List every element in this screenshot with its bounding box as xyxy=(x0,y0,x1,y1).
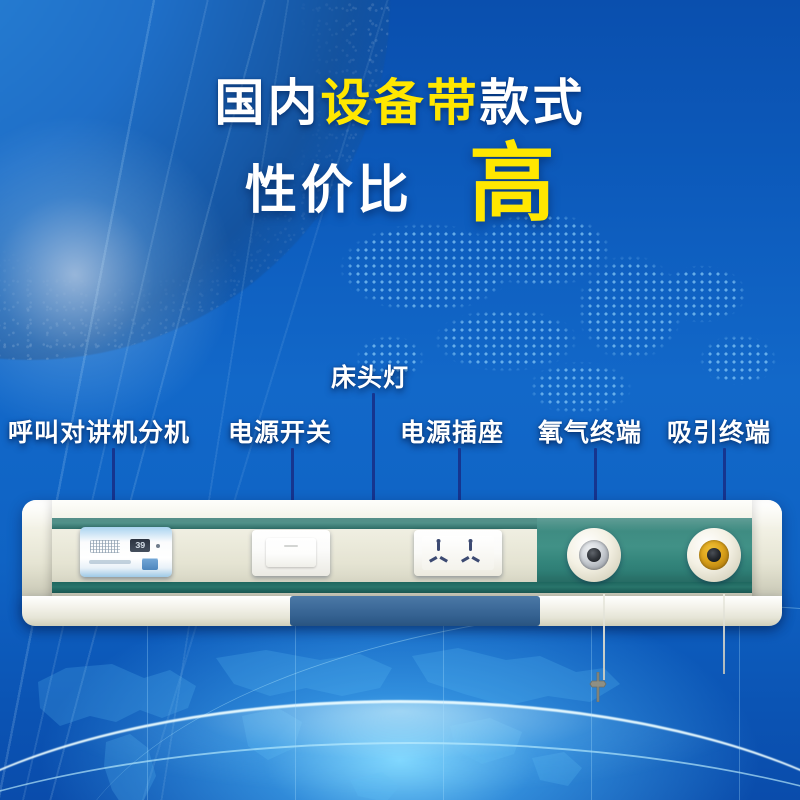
switch-rocker[interactable] xyxy=(266,538,316,567)
headline-text-plain-2: 款式 xyxy=(480,75,586,131)
intercom-slot xyxy=(89,560,131,564)
poster-canvas: 国内设备带款式 性价比 高 呼叫对讲机分机 电源开关 床头灯 电源插座 氧气终端… xyxy=(0,0,800,800)
headline-text-plain-1: 国内 xyxy=(215,75,321,131)
rail-accent-section xyxy=(290,596,540,626)
headline-emphasis: 高 xyxy=(469,144,555,226)
suction-terminal-port-icon xyxy=(707,548,721,562)
intercom-call-button[interactable] xyxy=(142,558,158,570)
background-grid-lines xyxy=(0,600,800,800)
bedside-light-switch[interactable] xyxy=(252,530,330,576)
indicator-led-icon xyxy=(156,544,160,548)
socket-slots-icon xyxy=(422,536,494,570)
socket-faceplate xyxy=(422,536,494,570)
headline-line-2: 性价比 高 xyxy=(0,150,800,232)
panel-stripe-bottom xyxy=(52,582,752,593)
headline-line-1: 国内设备带款式 xyxy=(0,78,800,128)
callout-label-intercom: 呼叫对讲机分机 xyxy=(8,413,190,449)
headline-subtext: 性价比 xyxy=(245,165,413,217)
callout-label-bedlight: 床头灯 xyxy=(331,358,409,394)
callout-label-switch: 电源开关 xyxy=(228,413,332,449)
headline-text-highlight: 设备带 xyxy=(321,75,480,131)
headline-block: 国内设备带款式 性价比 高 xyxy=(0,78,800,232)
callout-label-oxygen: 氧气终端 xyxy=(538,413,642,449)
pull-cord-handle-icon[interactable] xyxy=(586,672,610,702)
speaker-grille-icon xyxy=(90,540,120,553)
intercom-display: 39 xyxy=(130,539,150,552)
suction-terminal-core xyxy=(699,540,729,570)
switch-mark-icon xyxy=(284,545,298,547)
suction-terminal[interactable] xyxy=(687,528,741,582)
oxygen-terminal[interactable] xyxy=(567,528,621,582)
power-socket[interactable] xyxy=(414,530,502,576)
pull-cord-oxygen xyxy=(603,594,605,680)
callout-label-socket: 电源插座 xyxy=(400,413,504,449)
oxygen-terminal-core xyxy=(579,540,609,570)
pull-cord-suction xyxy=(723,594,725,674)
callout-label-suction: 吸引终端 xyxy=(667,413,771,449)
nurse-call-intercom[interactable]: 39 xyxy=(80,527,172,577)
lower-rail xyxy=(22,596,782,626)
oxygen-terminal-port-icon xyxy=(587,548,601,562)
